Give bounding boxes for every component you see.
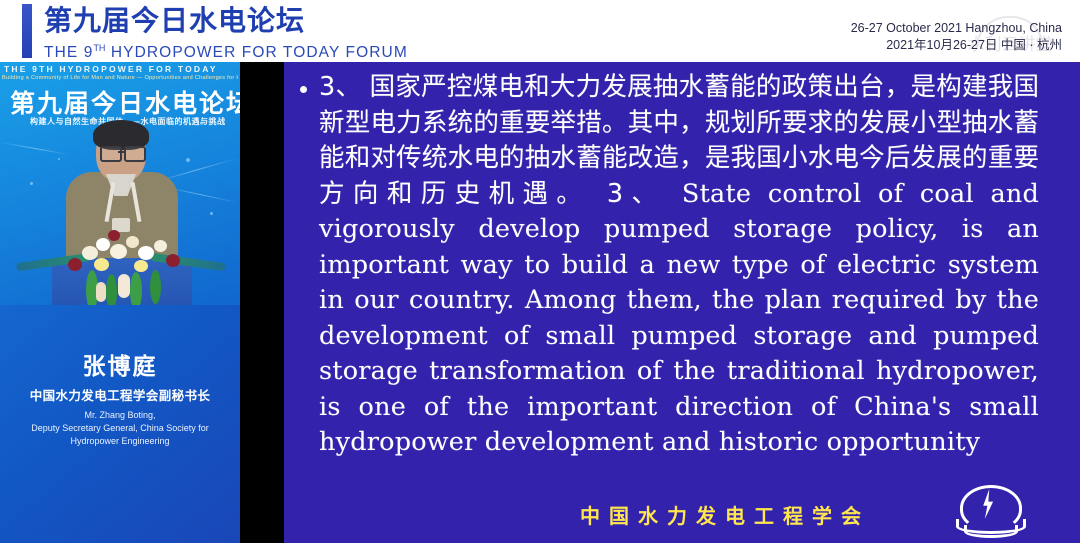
event-header: 第九届今日水电论坛 THE 9TH HYDROPOWER FOR TODAY F… xyxy=(0,0,1080,62)
speaker-video-pane[interactable]: THE 9TH HYDROPOWER FOR TODAY Building a … xyxy=(0,62,240,543)
brand-en-ordinal: TH xyxy=(93,43,105,53)
society-logo-icon xyxy=(956,485,1020,537)
bullet-point-icon xyxy=(300,86,307,93)
event-date-en: 26-27 October 2021 Hangzhou, China xyxy=(851,20,1062,37)
presentation-slide[interactable]: 3、 国家严控煤电和大力发展抽水蓄能的政策出台，是构建我国新型电力系统的重要举措… xyxy=(284,62,1080,543)
event-meta: 26-27 October 2021 Hangzhou, China 2021年… xyxy=(851,20,1062,54)
backdrop-banner-cn: 第九届今日水电论坛 xyxy=(10,84,240,120)
speaker-title-en-line1: Deputy Secretary General, China Society … xyxy=(0,422,240,435)
header-accent-bar xyxy=(22,4,32,58)
slide-footer: 中国水力发电工程学会 xyxy=(284,483,1080,539)
brand-en-pre: THE 9 xyxy=(44,44,93,61)
brand-en-post: HYDROPOWER FOR TODAY FORUM xyxy=(105,44,407,61)
speaker-title-en-line2: Hydropower Engineering xyxy=(0,435,240,448)
speaker-title-cn: 中国水力发电工程学会副秘书长 xyxy=(0,386,240,405)
speaker-glasses-left xyxy=(100,146,122,162)
backdrop-banner-en: THE 9TH HYDROPOWER FOR TODAY xyxy=(4,64,236,74)
brand-title-en: THE 9TH HYDROPOWER FOR TODAY FORUM xyxy=(44,38,408,62)
speaker-name-cn: 张博庭 xyxy=(0,353,240,381)
speaker-caption: 张博庭 中国水力发电工程学会副秘书长 Mr. Zhang Boting, Dep… xyxy=(0,353,240,448)
slide-paragraph-en: State control of coal and vigorously dev… xyxy=(319,179,1039,458)
speaker-name-en: Mr. Zhang Boting, xyxy=(0,409,240,422)
backdrop-banner-subtitle: Building a Community of Life for Man and… xyxy=(2,75,238,81)
brand-title-cn: 第九届今日水电论坛 xyxy=(44,5,408,37)
flower-arrangement xyxy=(38,230,206,310)
speaker-glasses-bridge xyxy=(118,151,124,153)
event-date-cn: 2021年10月26-27日 中国 · 杭州 xyxy=(851,37,1062,54)
livestream-screen: 第九届今日水电论坛 THE 9TH HYDROPOWER FOR TODAY F… xyxy=(0,0,1080,543)
speaker-glasses-right xyxy=(124,146,146,162)
letterbox-gap xyxy=(240,62,284,543)
speaker-caption-panel: 张博庭 中国水力发电工程学会副秘书长 Mr. Zhang Boting, Dep… xyxy=(0,305,240,543)
event-brand: 第九届今日水电论坛 THE 9TH HYDROPOWER FOR TODAY F… xyxy=(44,5,408,62)
slide-paragraph: 3、 国家严控煤电和大力发展抽水蓄能的政策出台，是构建我国新型电力系统的重要举措… xyxy=(319,70,1039,461)
logo-wave-inner xyxy=(964,525,1018,538)
slide-footer-organization: 中国水力发电工程学会 xyxy=(580,500,870,529)
